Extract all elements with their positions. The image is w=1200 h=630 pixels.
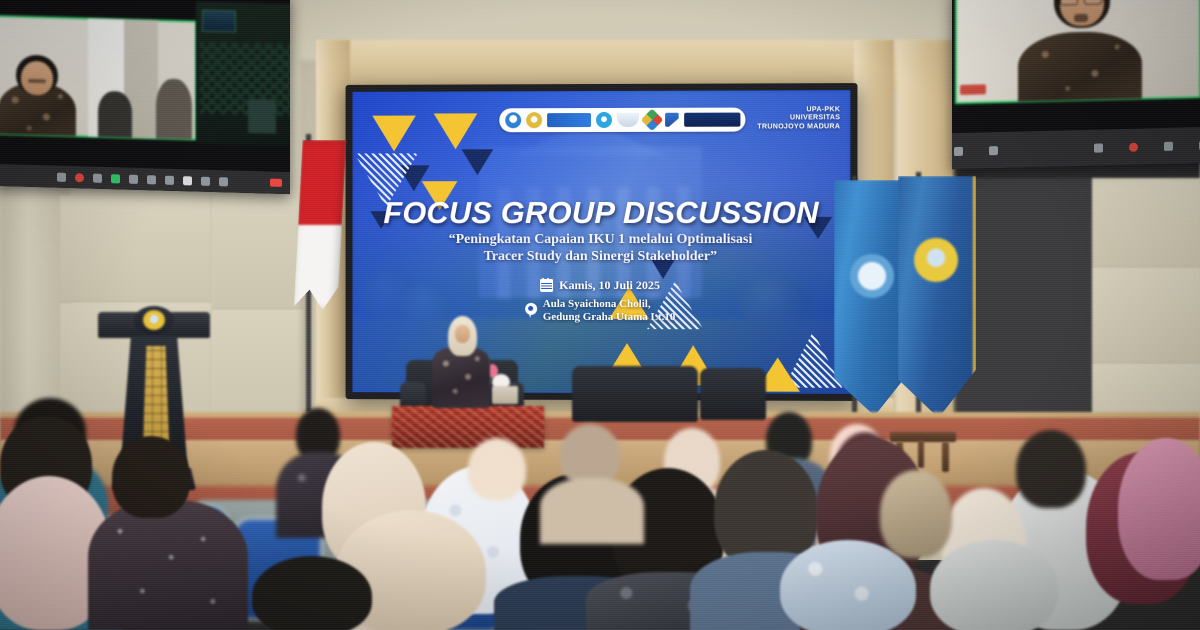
reactions-icon[interactable] [165, 175, 174, 184]
record-icon[interactable] [147, 175, 156, 184]
apps-icon[interactable] [183, 176, 192, 185]
zoom-tile-active-right[interactable] [956, 0, 1200, 103]
slide-venue-line-2: Gedung Graha Utama Lt.10 [543, 311, 676, 324]
chat-icon[interactable] [129, 174, 138, 183]
university-seal-icon [143, 310, 165, 330]
blu-logo [596, 112, 612, 128]
podium-emblem-plate [134, 306, 174, 334]
participant-mouth-icon-right [1074, 14, 1088, 22]
slide-organization-text: UPA-PKK UNIVERSITAS TRUNOJOYO MADURA [757, 106, 840, 132]
anniversary-2-logo [665, 113, 679, 127]
video-icon-right[interactable] [989, 146, 998, 155]
third-armchair [700, 368, 766, 420]
deco-triangle-gold-2 [434, 113, 478, 149]
second-armchair [572, 366, 698, 422]
utm-seal-logo [526, 112, 542, 128]
participant-face-icon [21, 61, 53, 96]
tutwuri-logo [617, 113, 639, 127]
curtain-pattern [200, 42, 290, 117]
third-person-silhouette [156, 78, 192, 139]
slide-subtitle-line-1: “Peningkatan Capaian IKU 1 melalui Optim… [352, 231, 850, 248]
audience-member-20 [468, 438, 526, 500]
side-table-leg-2 [942, 442, 949, 472]
org-line-2: UNIVERSITAS [757, 115, 840, 124]
tissue-box [492, 386, 518, 404]
recording-indicator [960, 84, 986, 95]
audience-member-19 [560, 424, 620, 486]
share-screen-icon[interactable] [111, 174, 120, 183]
participants-icon[interactable] [93, 173, 102, 182]
audience-member-17 [252, 556, 372, 630]
zoom-window-right [952, 0, 1200, 169]
slide-venue-row: Aula Syaichona Cholil, Gedung Graha Utam… [352, 298, 850, 325]
audience-member-4 [112, 436, 190, 518]
wall-panel-right-a [1090, 176, 1200, 268]
chair-in-video [248, 99, 276, 134]
microphone-icon[interactable] [57, 172, 66, 181]
slide-title: FOCUS GROUP DISCUSSION [352, 195, 850, 231]
participant-mouth-icon [28, 79, 46, 84]
audience-body-19 [540, 478, 644, 544]
table-batik-cloth [392, 406, 544, 448]
slide-subtitle-line-2: Tracer Study dan Sinergi Stakeholder” [352, 248, 850, 265]
institution-flag-gold-emblem [898, 176, 976, 418]
slide-date-row: Kamis, 10 Juli 2025 [352, 278, 850, 294]
merdeka-banner-logo [684, 113, 740, 127]
zoom-tile-secondary-left[interactable] [196, 2, 290, 147]
audience-body-3-sequin [88, 500, 248, 630]
glasses-icon [1060, 0, 1078, 6]
more-icon[interactable] [219, 177, 228, 186]
video-icon[interactable] [75, 173, 84, 182]
deco-triangle-navy-2 [461, 149, 493, 175]
kampus-merdeka-logo [640, 109, 663, 132]
slide-venue: Aula Syaichona Cholil, Gedung Graha Utam… [543, 298, 676, 324]
slide-subtitle: “Peningkatan Capaian IKU 1 melalui Optim… [352, 231, 850, 265]
slide-date: Kamis, 10 Juli 2025 [559, 278, 660, 293]
record-icon-right[interactable] [1129, 142, 1138, 151]
kemdikbud-logo [505, 112, 521, 128]
leave-button[interactable] [270, 179, 282, 187]
audience-member-18 [1016, 430, 1086, 508]
glasses-icon-right-lens [1084, 0, 1102, 5]
wall-panel-d [212, 310, 304, 425]
screenshot-root: UPA-PKK UNIVERSITAS TRUNOJOYO MADURA FOC… [0, 0, 1200, 630]
side-display-left [0, 0, 290, 194]
slide-venue-line-1: Aula Syaichona Cholil, [543, 298, 676, 311]
whiteboard-icon[interactable] [201, 176, 210, 185]
side-table-leg-3 [918, 440, 924, 468]
utm-wordmark-logo [547, 113, 591, 127]
dove-emblem-icon [850, 254, 894, 298]
wall-panel-c [212, 190, 304, 310]
calendar-icon [540, 279, 553, 292]
speaker-face [455, 325, 470, 343]
second-person-silhouette [98, 91, 132, 138]
projection-screen-bezel: UPA-PKK UNIVERSITAS TRUNOJOYO MADURA FOC… [346, 83, 858, 401]
share-screen-icon-right[interactable] [1094, 143, 1103, 152]
audience-member-21-hijab-gray [930, 540, 1058, 630]
org-line-3: TRUNOJOYO MADURA [757, 123, 840, 132]
deco-triangle-gold-1 [372, 116, 416, 152]
zoom-tile-active-left[interactable] [0, 16, 196, 140]
speaker-body [432, 348, 490, 408]
gold-seal-emblem-icon [914, 238, 958, 282]
zoom-toolbar-right[interactable] [952, 127, 1200, 169]
reactions-icon-right[interactable] [1164, 141, 1173, 150]
participant-body-icon-right [1018, 31, 1142, 104]
wall-panel-a [60, 195, 212, 303]
side-display-right [952, 0, 1200, 169]
wall-panel-right-b [1090, 268, 1200, 364]
logo-strip [499, 108, 745, 133]
presentation-slide: UPA-PKK UNIVERSITAS TRUNOJOYO MADURA FOC… [352, 90, 850, 394]
microphone-icon-right[interactable] [954, 146, 963, 155]
location-pin-icon [525, 303, 537, 319]
zoom-window-left [0, 0, 290, 194]
audience-member-14-hijab-pink [1118, 438, 1200, 580]
slide-meta: Kamis, 10 Juli 2025 Aula Syaichona Choli… [352, 275, 850, 325]
indonesia-flag [294, 140, 347, 310]
audience-member-22 [880, 470, 952, 558]
inset-video-icon [202, 10, 236, 33]
